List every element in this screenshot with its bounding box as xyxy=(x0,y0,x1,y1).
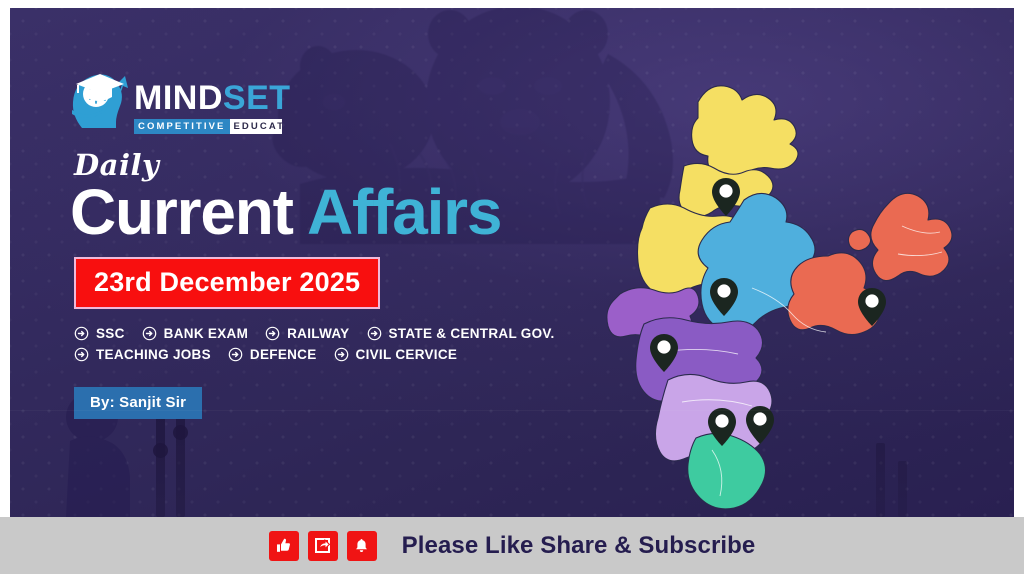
share-arrow-icon xyxy=(314,537,331,554)
circle-arrow-right-icon xyxy=(142,326,157,341)
date-banner: 23rd December 2025 xyxy=(74,257,380,309)
exam-tag-row-1: SSC BANK EXAM RAILWAY STATE & CENTRAL GO… xyxy=(74,326,614,341)
thumbs-up-icon xyxy=(275,537,292,554)
circle-arrow-right-icon xyxy=(228,347,243,362)
circle-arrow-right-icon xyxy=(74,347,89,362)
pole-left-silhouette xyxy=(156,409,165,517)
circle-arrow-right-icon xyxy=(334,347,349,362)
brand-logo-text: MINDSET COMPETITIVE EDUCATION xyxy=(134,66,291,134)
author-badge: By: Sanjit Sir xyxy=(74,387,202,419)
footer-bar: Please Like Share & Subscribe xyxy=(0,517,1024,574)
graduation-brain-head-icon xyxy=(66,66,128,130)
poster-stage: MINDSET COMPETITIVE EDUCATION Daily Curr… xyxy=(10,8,1014,517)
exam-tag-state-central-gov[interactable]: STATE & CENTRAL GOV. xyxy=(367,326,555,341)
exam-tag-civil-cervice[interactable]: CIVIL CERVICE xyxy=(334,347,458,362)
exam-tag-label: DEFENCE xyxy=(250,347,317,362)
brand-name-part1: MIND xyxy=(134,79,223,117)
exam-tag-defence[interactable]: DEFENCE xyxy=(228,347,317,362)
circle-arrow-right-icon xyxy=(367,326,382,341)
brand-name: MINDSET xyxy=(134,81,291,115)
brand-tagline-part2: EDUCATION xyxy=(230,119,283,134)
exam-tag-label: SSC xyxy=(96,326,125,341)
brand-tagline: COMPETITIVE EDUCATION xyxy=(134,119,282,134)
exam-tag-list: SSC BANK EXAM RAILWAY STATE & CENTRAL GO… xyxy=(74,326,614,368)
ground-divider xyxy=(10,410,1014,411)
exam-tag-row-2: TEACHING JOBS DEFENCE CIVIL CERVICE xyxy=(74,347,614,362)
exam-tag-label: BANK EXAM xyxy=(164,326,248,341)
exam-tag-label: TEACHING JOBS xyxy=(96,347,211,362)
like-button[interactable] xyxy=(269,531,299,561)
exam-tag-bank-exam[interactable]: BANK EXAM xyxy=(142,326,248,341)
exam-tag-ssc[interactable]: SSC xyxy=(74,326,125,341)
exam-tag-label: RAILWAY xyxy=(287,326,349,341)
page-title-part1: Current xyxy=(70,176,293,248)
exam-tag-railway[interactable]: RAILWAY xyxy=(265,326,349,341)
exam-tag-teaching-jobs[interactable]: TEACHING JOBS xyxy=(74,347,211,362)
circle-arrow-right-icon xyxy=(265,326,280,341)
brand-logo[interactable]: MINDSET COMPETITIVE EDUCATION xyxy=(66,66,291,134)
circle-arrow-right-icon xyxy=(74,326,89,341)
poster-root: MINDSET COMPETITIVE EDUCATION Daily Curr… xyxy=(0,0,1024,574)
bell-icon xyxy=(353,537,370,554)
page-title-part2: Affairs xyxy=(307,176,501,248)
exam-tag-label: STATE & CENTRAL GOV. xyxy=(389,326,555,341)
page-title: Current Affairs xyxy=(70,180,501,244)
share-button[interactable] xyxy=(308,531,338,561)
subscribe-button[interactable] xyxy=(347,531,377,561)
footer-message: Please Like Share & Subscribe xyxy=(402,532,756,560)
india-map xyxy=(602,56,1002,476)
exam-tag-label: CIVIL CERVICE xyxy=(356,347,458,362)
brand-tagline-part1: COMPETITIVE xyxy=(134,119,230,134)
brand-name-part2: SET xyxy=(223,79,291,117)
